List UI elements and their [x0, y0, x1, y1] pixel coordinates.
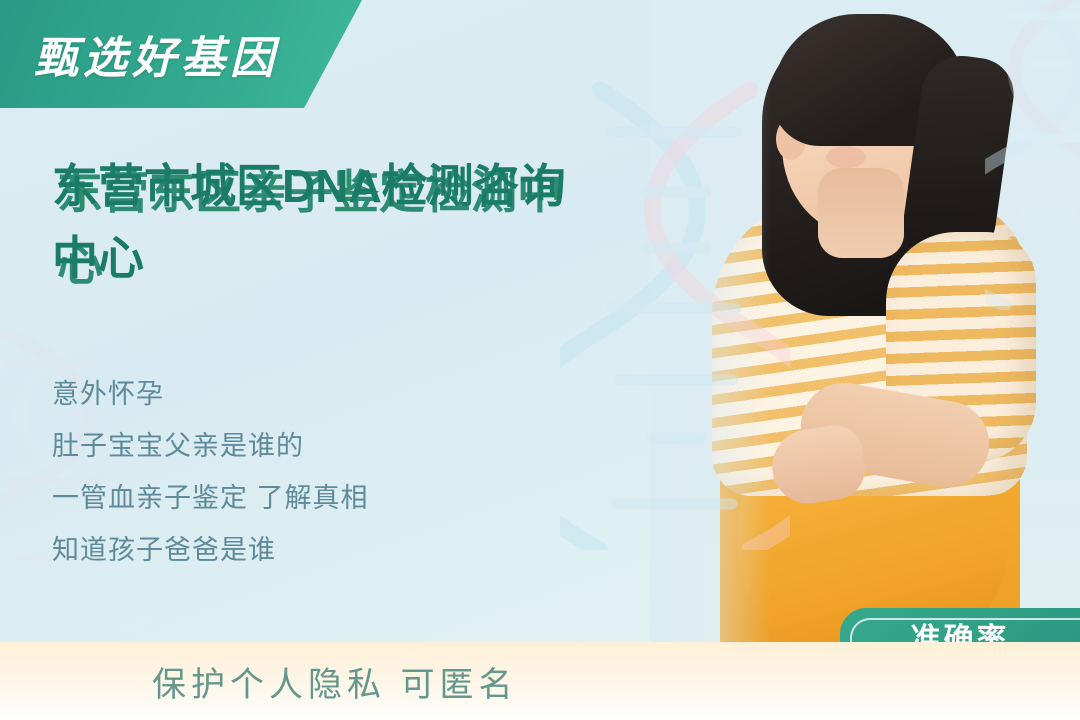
privacy-footer-text: 保护个人隐私 可匿名: [152, 657, 517, 706]
page-title: 东营东区亲子鉴定检测中 心 东营市城区DNA检测咨询 中心: [52, 150, 872, 298]
photo-left-fade: [650, 0, 770, 720]
page-title-layer-front: 东营市城区DNA检测咨询 中心: [52, 150, 872, 294]
marketing-copy: 意外怀孕 肚子宝宝父亲是谁的 一管血亲子鉴定 了解真相 知道孩子爸爸是谁: [52, 368, 572, 576]
copy-line: 肚子宝宝父亲是谁的: [52, 420, 572, 472]
copy-line: 知道孩子爸爸是谁: [52, 524, 572, 576]
copy-line: 一管血亲子鉴定 了解真相: [52, 472, 572, 524]
brand-logo-badge: 甄选好基因: [0, 0, 362, 108]
promo-banner: 甄选好基因 东营东区亲子鉴定检测中 心 东营市城区DNA检测咨询 中心 意外怀孕…: [0, 0, 1080, 720]
brand-logo-text: 甄选好基因: [34, 22, 279, 86]
copy-line: 意外怀孕: [52, 368, 572, 420]
privacy-footer-strip: 保护个人隐私 可匿名: [0, 642, 1080, 720]
